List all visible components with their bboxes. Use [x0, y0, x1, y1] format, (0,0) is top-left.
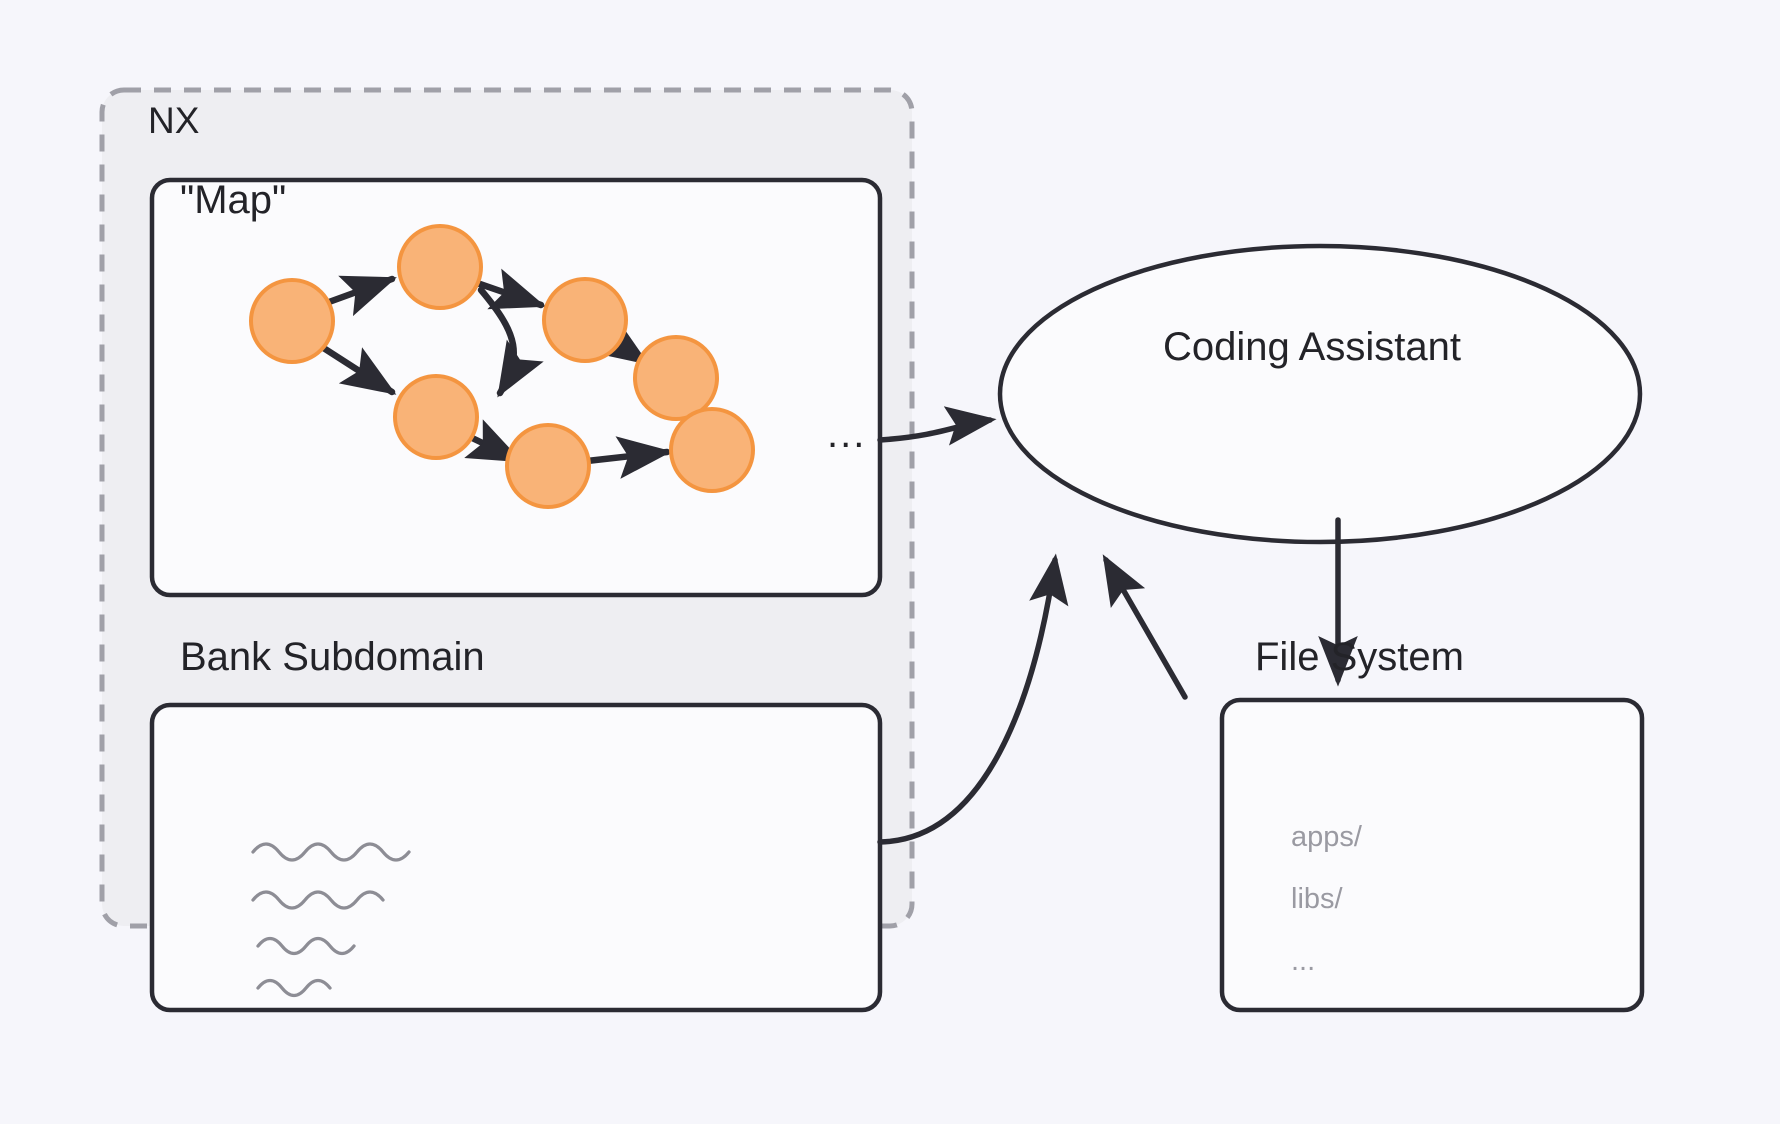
bank-subdomain-card[interactable] — [152, 705, 880, 1010]
file-system-entry: libs/ — [1291, 883, 1343, 916]
graph-node[interactable] — [507, 425, 589, 507]
graph-node[interactable] — [395, 376, 477, 458]
file-system-entry: ... — [1291, 945, 1315, 978]
connector-filesystem-to-assistant — [1106, 560, 1185, 697]
diagram-svg — [0, 0, 1780, 1124]
graph-node[interactable] — [251, 280, 333, 362]
graph-node[interactable] — [671, 409, 753, 491]
graph-node[interactable] — [399, 226, 481, 308]
diagram-canvas: NX "Map" ... Bank Subdomain Coding Assis… — [0, 0, 1780, 1124]
file-system-title: File System — [1255, 635, 1464, 680]
map-card[interactable] — [152, 180, 880, 595]
graph-ellipsis: ... — [827, 412, 866, 457]
graph-node[interactable] — [635, 337, 717, 419]
graph-node[interactable] — [544, 279, 626, 361]
file-system-card[interactable] — [1222, 700, 1642, 1010]
bank-subdomain-title: Bank Subdomain — [180, 635, 485, 680]
coding-assistant-label: Coding Assistant — [1163, 325, 1461, 370]
coding-assistant-node[interactable] — [1000, 246, 1640, 542]
map-card-title: "Map" — [180, 178, 286, 223]
nx-group-label: NX — [148, 100, 199, 142]
file-system-entry: apps/ — [1291, 821, 1362, 854]
